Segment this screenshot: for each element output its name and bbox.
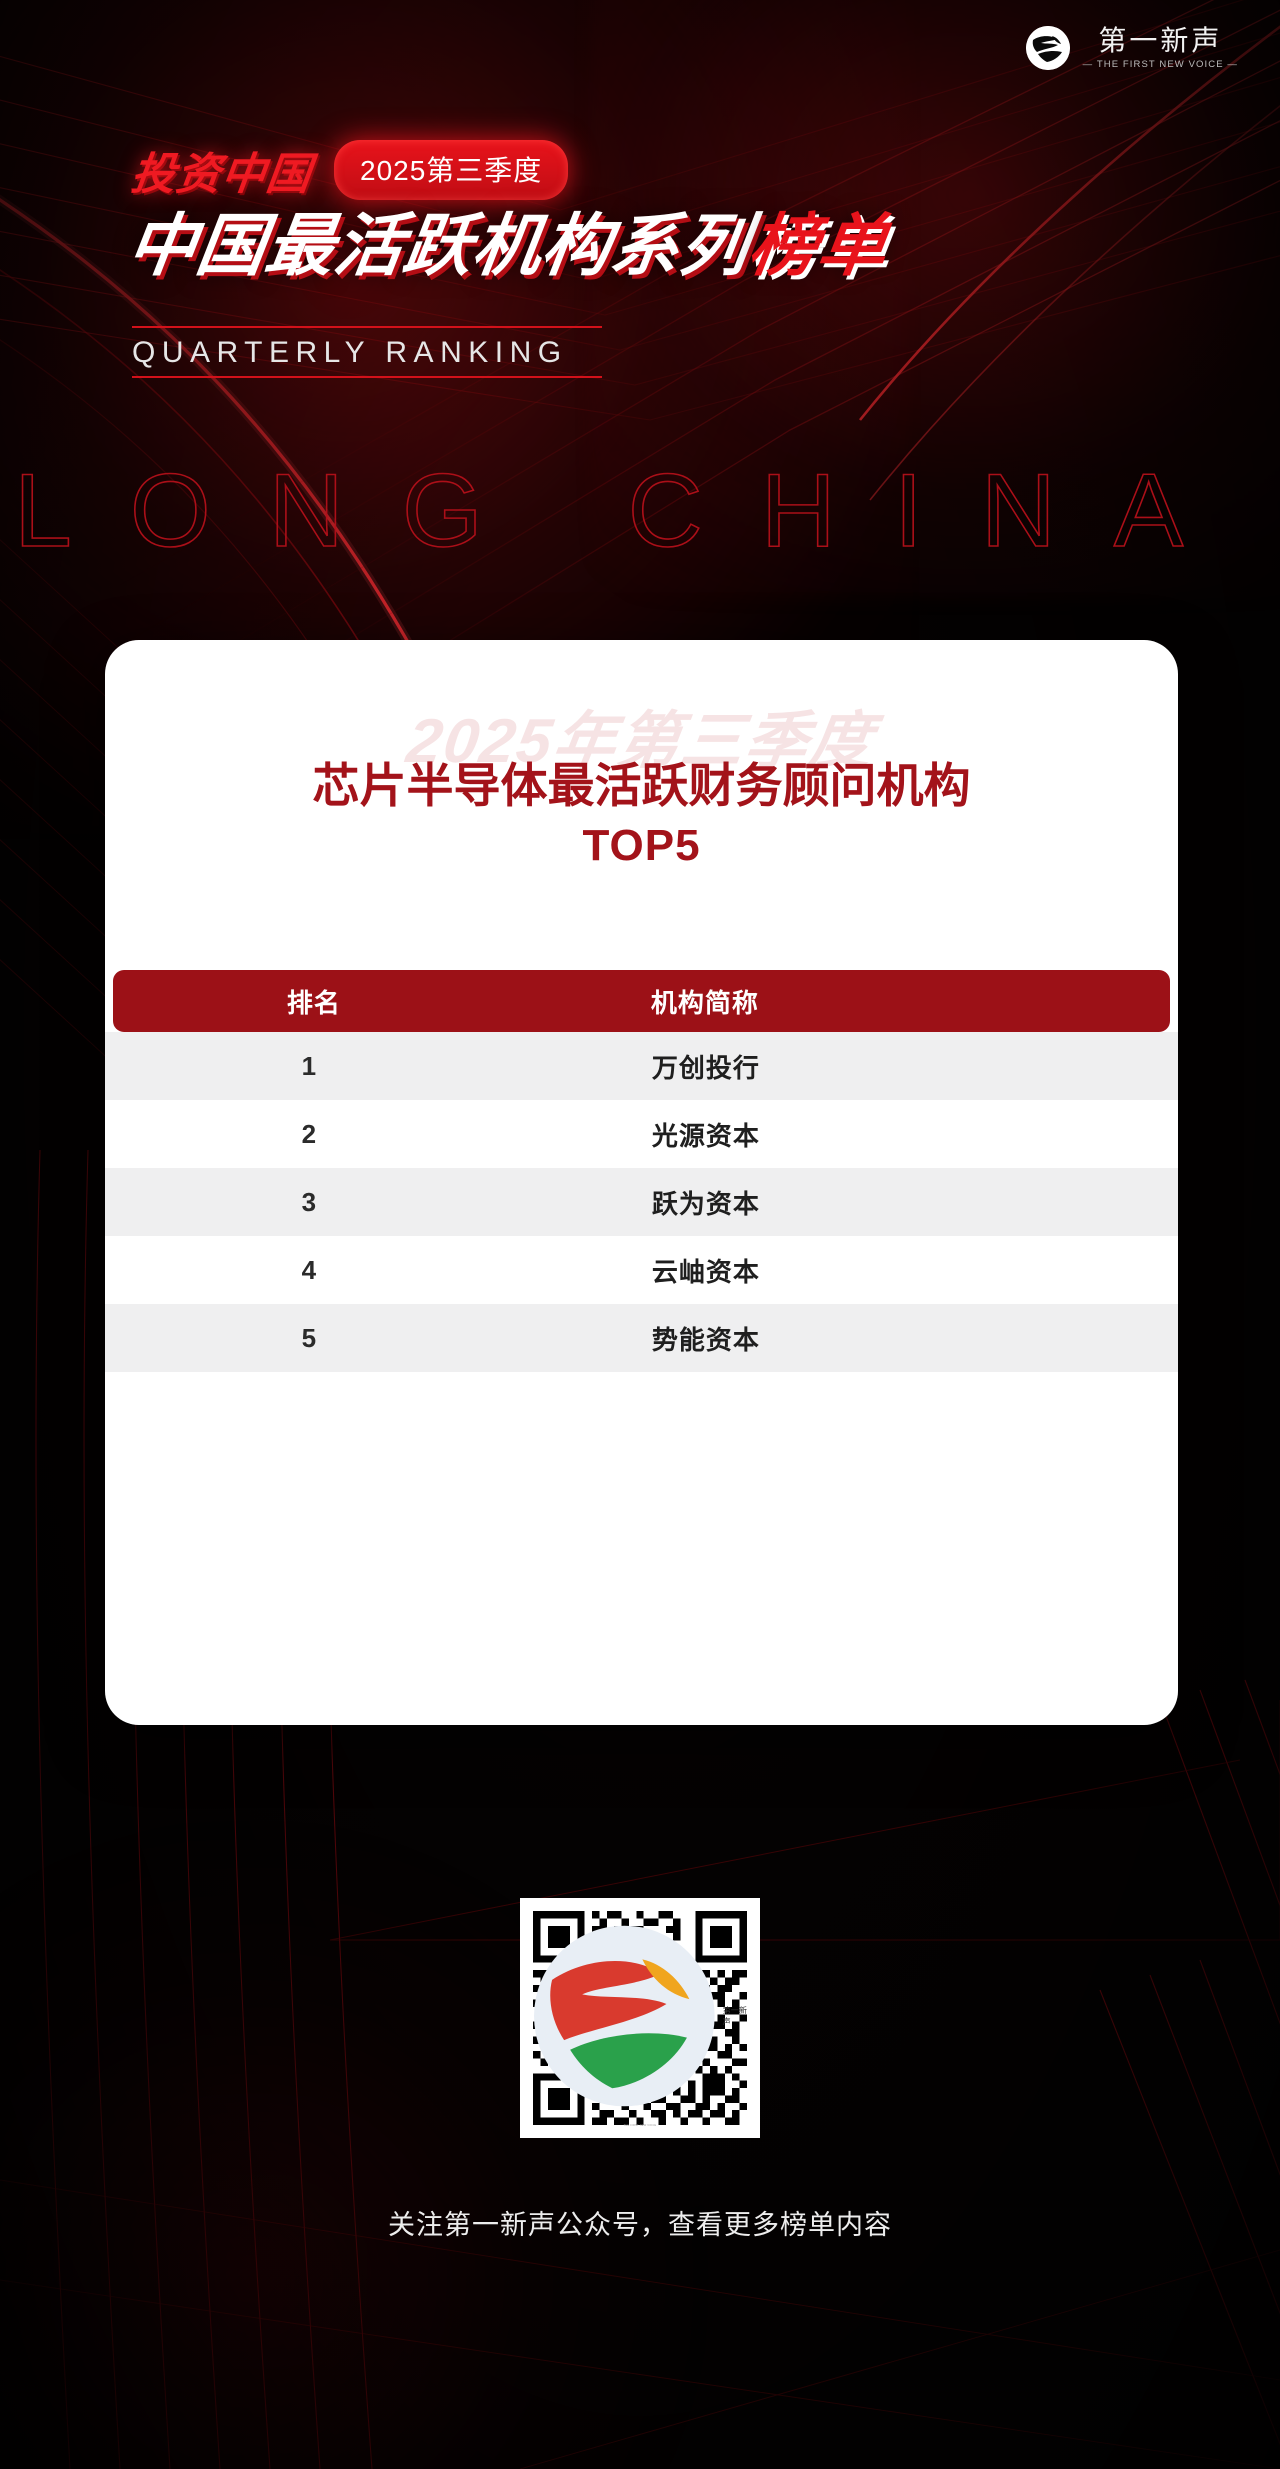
cell-rank: 1 xyxy=(105,1051,513,1082)
qr-center-name: 第一新声 xyxy=(723,2005,753,2027)
subtitle-en: QUARTERLY RANKING xyxy=(132,328,602,376)
brand-logo-text: 第一新声 — THE FIRST NEW VOICE — xyxy=(1083,26,1238,70)
column-header-org: 机构简称 xyxy=(515,983,896,1020)
card-title-line2: TOP5 xyxy=(141,818,1142,874)
subtitle-block: QUARTERLY RANKING xyxy=(132,326,602,378)
cell-org-name: 云岫资本 xyxy=(513,1252,899,1289)
qr-center-tagline: THE FIRST NEW VOICE xyxy=(624,2124,657,2127)
poster-root: 第一新声 — THE FIRST NEW VOICE — 投资中国 2025第三… xyxy=(0,0,1280,2469)
cell-org-name: 跃为资本 xyxy=(513,1184,899,1221)
cell-rank: 3 xyxy=(105,1187,513,1218)
brand-logo: 第一新声 — THE FIRST NEW VOICE — xyxy=(1026,26,1238,70)
cell-org-name: 万创投行 xyxy=(513,1048,899,1085)
subtitle-rule-bottom xyxy=(132,376,602,378)
cell-org-name: 势能资本 xyxy=(513,1320,899,1357)
ranking-card: 2025年第三季度 芯片半导体最活跃财务顾问机构 TOP5 排名 机构简称 1 … xyxy=(105,640,1178,1725)
cell-rank: 5 xyxy=(105,1323,513,1354)
kicker-row: 投资中国 2025第三季度 xyxy=(132,138,568,202)
page-title-main: 中国最活跃机构系列 xyxy=(123,208,755,284)
page-title-accent: 榜单 xyxy=(744,208,893,284)
column-header-rank: 排名 xyxy=(113,983,515,1020)
table-row: 1 万创投行 xyxy=(105,1032,1178,1100)
card-title-line1: 芯片半导体最活跃财务顾问机构 xyxy=(313,759,971,812)
cell-rank: 4 xyxy=(105,1255,513,1286)
cell-rank: 2 xyxy=(105,1119,513,1150)
table-row: 3 跃为资本 xyxy=(105,1168,1178,1236)
cell-org-name: 光源资本 xyxy=(513,1116,899,1153)
ranking-table: 排名 机构简称 1 万创投行 2 光源资本 3 跃为资本 4 云岫资本 xyxy=(105,970,1178,1372)
kicker-label: 投资中国 xyxy=(128,138,316,202)
page-title: 中国最活跃机构系列榜单 xyxy=(123,208,893,286)
quarter-badge: 2025第三季度 xyxy=(334,140,568,200)
footer-note: 关注第一新声公众号，查看更多榜单内容 xyxy=(0,2203,1280,2242)
table-row: 2 光源资本 xyxy=(105,1100,1178,1168)
brand-name-en: — THE FIRST NEW VOICE — xyxy=(1083,59,1238,70)
qr-globe-icon xyxy=(528,1909,721,2123)
qr-code-icon[interactable]: 第一新声 THE FIRST NEW VOICE xyxy=(520,1898,760,2138)
brand-name-cn: 第一新声 xyxy=(1098,26,1222,56)
card-title: 芯片半导体最活跃财务顾问机构 TOP5 xyxy=(105,756,1178,874)
decor-long-china: LONG CHINA xyxy=(14,452,1241,571)
table-row: 5 势能资本 xyxy=(105,1304,1178,1372)
first-new-voice-globe-icon xyxy=(1026,26,1070,70)
qr-center-logo: 第一新声 THE FIRST NEW VOICE xyxy=(614,1992,666,2044)
table-header-row: 排名 机构简称 xyxy=(113,970,1170,1032)
table-row: 4 云岫资本 xyxy=(105,1236,1178,1304)
qr-center-mark: 第一新声 xyxy=(528,1909,752,2123)
